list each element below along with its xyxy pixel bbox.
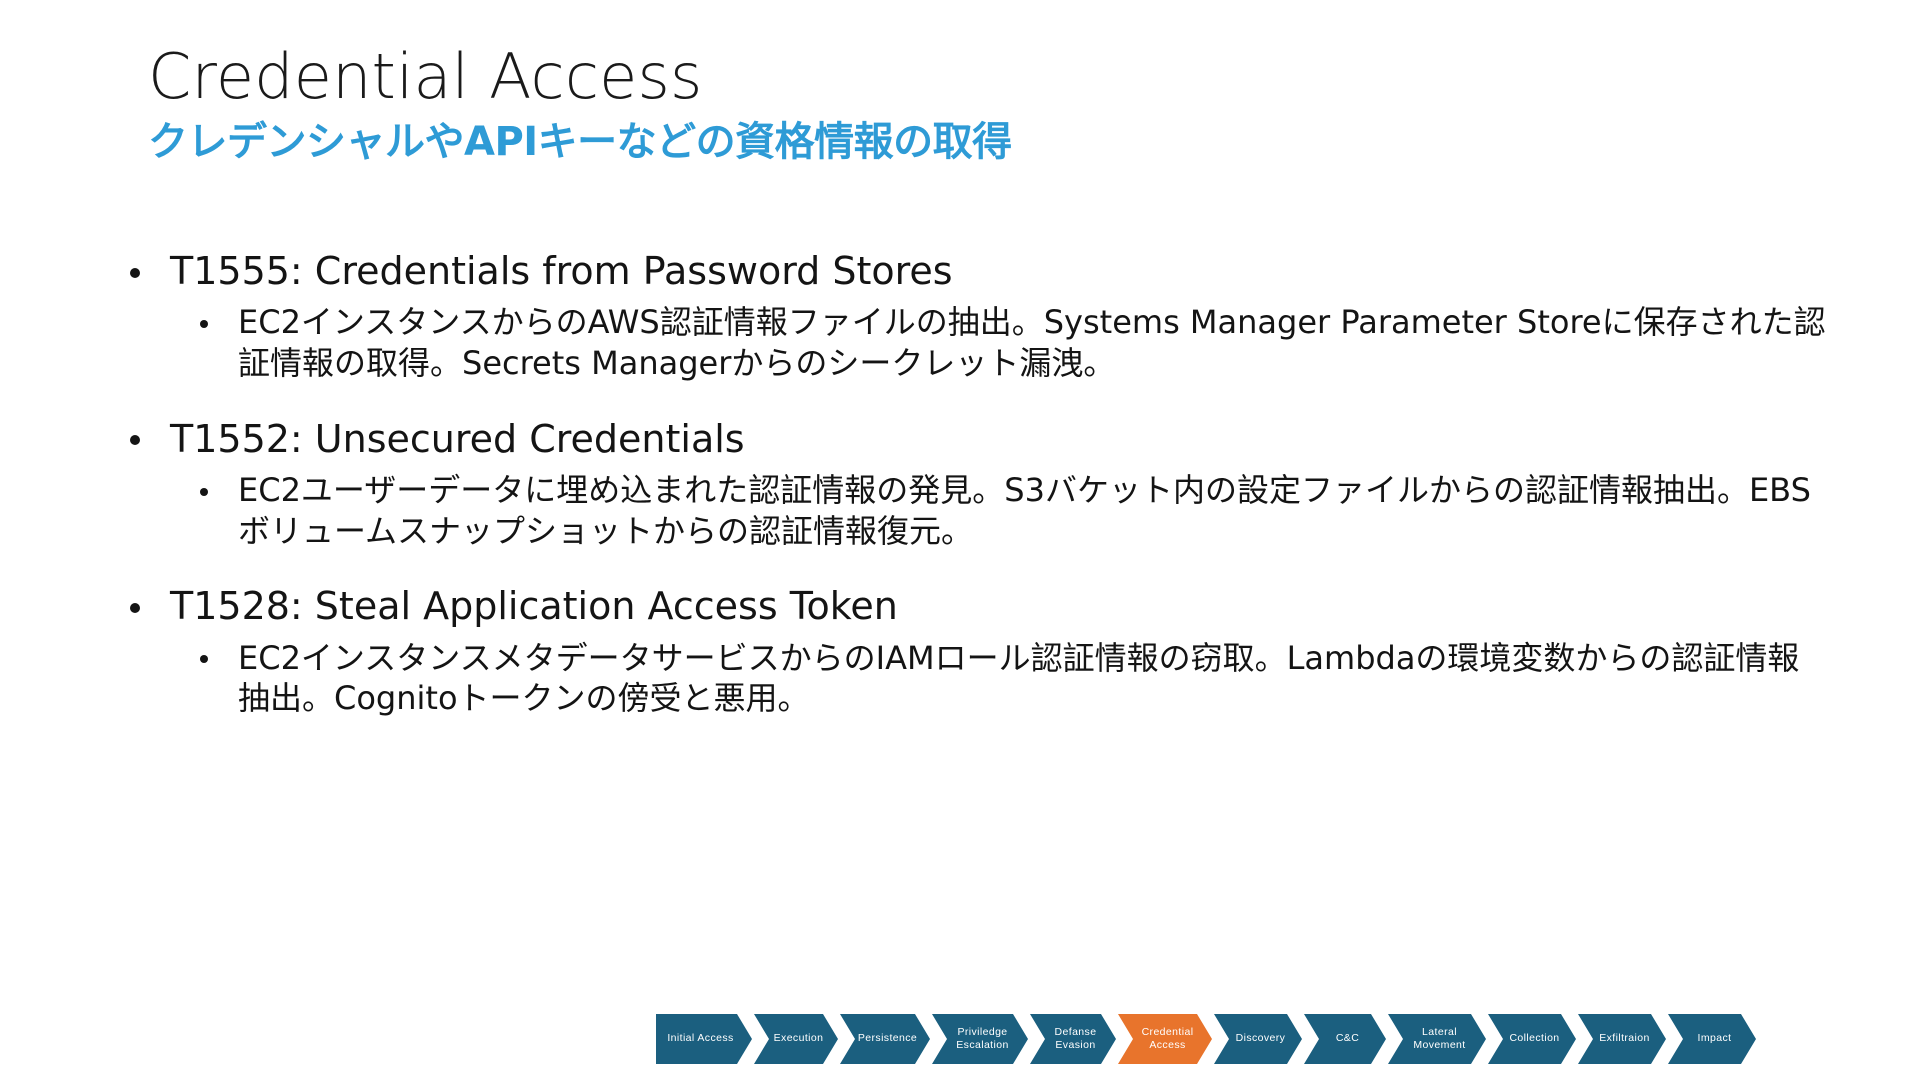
process-step-label: Persistence [858,1032,917,1045]
bullet-level1-label: T1552: Unsecured Credentials [170,417,745,461]
bullet-group: T1552: Unsecured Credentials EC2ユーザーデータに… [128,416,1828,552]
process-step-exfiltraion[interactable]: Exfiltraion [1578,1014,1666,1064]
process-step-discovery[interactable]: Discovery [1214,1014,1302,1064]
bullet-level1-label: T1555: Credentials from Password Stores [170,249,953,293]
process-step-label: Initial Access [667,1032,733,1045]
process-step-execution[interactable]: Execution [754,1014,838,1064]
bullet-level2-label: EC2ユーザーデータに埋め込まれた認証情報の発見。S3バケット内の設定ファイルか… [238,471,1811,550]
bullet-group: T1528: Steal Application Access Token EC… [128,583,1828,719]
process-step-defanse-evasion[interactable]: Defanse Evasion [1030,1014,1116,1064]
process-step-lateral-movement[interactable]: Lateral Movement [1388,1014,1486,1064]
slide-canvas: Credential Access クレデンシャルやAPIキーなどの資格情報の取… [0,0,1920,1080]
bullet-level2: EC2ユーザーデータに埋め込まれた認証情報の発見。S3バケット内の設定ファイルか… [128,470,1828,551]
bullet-dot-icon [200,320,208,328]
bullet-level1: T1528: Steal Application Access Token [128,583,1828,629]
process-step-label: C&C [1336,1032,1359,1045]
process-step-label: Lateral Movement [1413,1026,1465,1052]
attack-chain-process-bar: Initial AccessExecutionPersistencePrivil… [656,1014,1759,1064]
bullet-dot-icon [200,488,208,496]
bullet-dot-icon [130,268,140,278]
process-step-impact[interactable]: Impact [1668,1014,1756,1064]
title-block: Credential Access クレデンシャルやAPIキーなどの資格情報の取… [148,44,1768,165]
process-step-label: Priviledge Escalation [956,1026,1008,1052]
bullet-group: T1555: Credentials from Password Stores … [128,248,1828,384]
bullet-level1-label: T1528: Steal Application Access Token [170,584,898,628]
process-step-label: Discovery [1236,1032,1286,1045]
process-step-persistence[interactable]: Persistence [840,1014,930,1064]
process-step-label: Exfiltraion [1599,1032,1650,1045]
process-step-collection[interactable]: Collection [1488,1014,1576,1064]
bullet-level1: T1552: Unsecured Credentials [128,416,1828,462]
process-step-credential-access[interactable]: Credential Access [1118,1014,1212,1064]
bullet-level2-label: EC2インスタンスからのAWS認証情報ファイルの抽出。Systems Manag… [238,303,1826,382]
page-subtitle: クレデンシャルやAPIキーなどの資格情報の取得 [148,119,1768,165]
page-title: Credential Access [148,44,1768,109]
process-step-label: Defanse Evasion [1055,1026,1097,1052]
bullet-dot-icon [130,435,140,445]
bullet-level2: EC2インスタンスからのAWS認証情報ファイルの抽出。Systems Manag… [128,302,1828,383]
process-step-label: Execution [774,1032,824,1045]
process-step-label: Collection [1509,1032,1559,1045]
bullet-level2-label: EC2インスタンスメタデータサービスからのIAMロール認証情報の窃取。Lambd… [238,639,1799,718]
process-step-candc[interactable]: C&C [1304,1014,1386,1064]
process-step-initial-access[interactable]: Initial Access [656,1014,752,1064]
process-step-label: Credential Access [1142,1026,1194,1052]
process-step-label: Impact [1698,1032,1732,1045]
bullet-dot-icon [200,655,208,663]
bullet-dot-icon [130,603,140,613]
bullet-content: T1555: Credentials from Password Stores … [128,248,1828,719]
bullet-level1: T1555: Credentials from Password Stores [128,248,1828,294]
process-step-priviledge-escalation[interactable]: Priviledge Escalation [932,1014,1028,1064]
bullet-level2: EC2インスタンスメタデータサービスからのIAMロール認証情報の窃取。Lambd… [128,638,1828,719]
